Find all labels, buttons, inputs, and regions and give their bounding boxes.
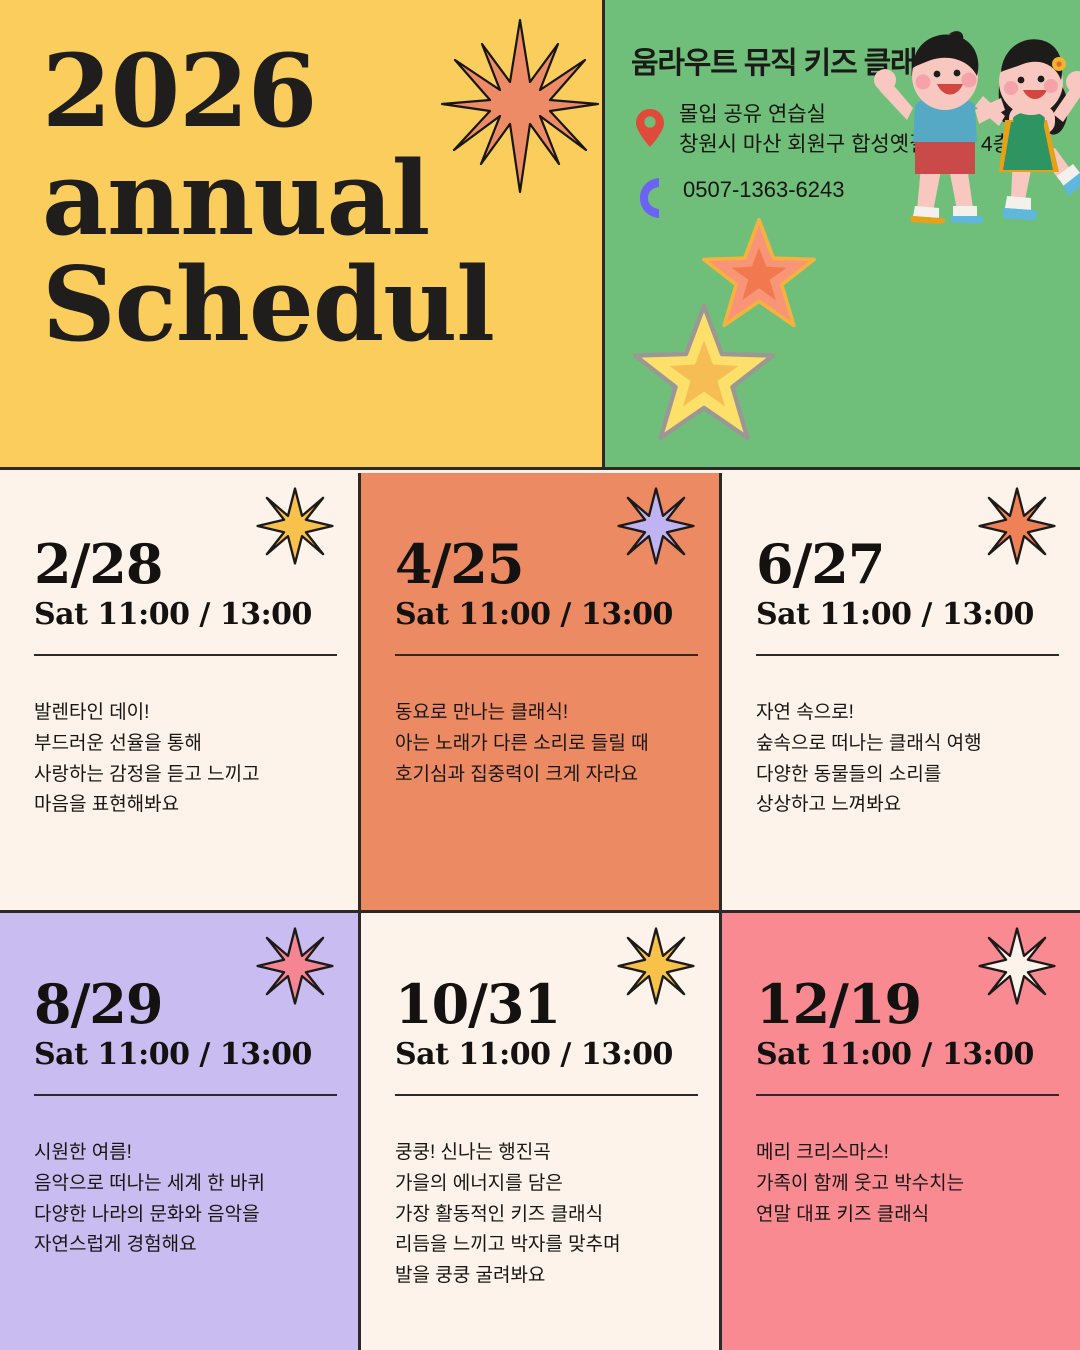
schedule-card[interactable]: 8/29 Sat 11:00 / 13:00 시원한 여름! 음악으로 떠나는 … xyxy=(0,913,361,1350)
desc-line: 자연스럽게 경험해요 xyxy=(34,1230,330,1261)
title-line-schedule: Schedul xyxy=(42,256,572,356)
desc-line: 가장 활동적인 키즈 클래식 xyxy=(395,1200,691,1231)
schedule-card[interactable]: 10/31 Sat 11:00 / 13:00 쿵쿵! 신나는 행진곡 가을의 … xyxy=(361,913,722,1350)
desc-line: 자연 속으로! xyxy=(756,698,1052,729)
twelve-point-sparkle-icon xyxy=(440,12,600,202)
desc-line: 발렌타인 데이! xyxy=(34,698,330,729)
card-divider xyxy=(395,654,698,656)
card-description: 메리 크리스마스! 가족이 함께 웃고 박수치는 연말 대표 키즈 클래식 xyxy=(756,1138,1052,1230)
hero-title-panel: 2026 annual Schedul xyxy=(0,0,605,470)
desc-line: 연말 대표 키즈 클래식 xyxy=(756,1200,1052,1231)
desc-line: 시원한 여름! xyxy=(34,1138,330,1169)
schedule-card[interactable]: 4/25 Sat 11:00 / 13:00 동요로 만나는 클래식! 아는 노… xyxy=(361,473,722,913)
schedule-grid: 2/28 Sat 11:00 / 13:00 발렌타인 데이! 부드러운 선율을… xyxy=(0,473,1080,1350)
desc-line: 숲속으로 떠나는 클래식 여행 xyxy=(756,729,1052,760)
card-time: Sat 11:00 / 13:00 xyxy=(395,597,691,632)
eight-point-star-icon xyxy=(617,927,695,1005)
two-kids-cheering-illustration xyxy=(863,10,1080,225)
desc-line: 발을 쿵쿵 굴려봐요 xyxy=(395,1261,691,1292)
card-divider xyxy=(395,1094,698,1096)
desc-line: 상상하고 느껴봐요 xyxy=(756,790,1052,821)
card-divider xyxy=(756,654,1059,656)
card-time: Sat 11:00 / 13:00 xyxy=(395,1037,691,1072)
desc-line: 리듬을 느끼고 박자를 맞추며 xyxy=(395,1230,691,1261)
map-pin-icon xyxy=(635,108,665,148)
card-description: 자연 속으로! 숲속으로 떠나는 클래식 여행 다양한 동물들의 소리를 상상하… xyxy=(756,698,1052,821)
card-time: Sat 11:00 / 13:00 xyxy=(756,1037,1052,1072)
desc-line: 다양한 나라의 문화와 음악을 xyxy=(34,1200,330,1231)
card-divider xyxy=(34,654,337,656)
eight-point-star-icon xyxy=(978,487,1056,565)
card-description: 시원한 여름! 음악으로 떠나는 세계 한 바퀴 다양한 나라의 문화와 음악을… xyxy=(34,1138,330,1261)
schedule-card[interactable]: 6/27 Sat 11:00 / 13:00 자연 속으로! 숲속으로 떠나는 … xyxy=(722,473,1080,913)
eight-point-star-icon xyxy=(617,487,695,565)
desc-line: 메리 크리스마스! xyxy=(756,1138,1052,1169)
desc-line: 부드러운 선율을 통해 xyxy=(34,729,330,760)
brand-info-panel: 움라우트 뮤직 키즈 클래식 몰입 공유 연습실 창원시 마산 회원구 합성옛길… xyxy=(605,0,1080,470)
schedule-card[interactable]: 2/28 Sat 11:00 / 13:00 발렌타인 데이! 부드러운 선율을… xyxy=(0,473,361,913)
poster-root: 2026 annual Schedul 움라우트 뮤직 키즈 클래식 몰입 공유 xyxy=(0,0,1080,1350)
desc-line: 가족이 함께 웃고 박수치는 xyxy=(756,1169,1052,1200)
card-time: Sat 11:00 / 13:00 xyxy=(34,597,330,632)
desc-line: 마음을 표현해봐요 xyxy=(34,790,330,821)
card-description: 쿵쿵! 신나는 행진곡 가을의 에너지를 담은 가장 활동적인 키즈 클래식 리… xyxy=(395,1138,691,1292)
desc-line: 동요로 만나는 클래식! xyxy=(395,698,691,729)
desc-line: 음악으로 떠나는 세계 한 바퀴 xyxy=(34,1169,330,1200)
desc-line: 아는 노래가 다른 소리로 들릴 때 xyxy=(395,729,691,760)
phone-icon xyxy=(639,176,665,220)
card-divider xyxy=(34,1094,337,1096)
card-description: 발렌타인 데이! 부드러운 선율을 통해 사랑하는 감정을 듣고 느끼고 마음을… xyxy=(34,698,330,821)
five-point-star-icon xyxy=(629,300,779,450)
schedule-card[interactable]: 12/19 Sat 11:00 / 13:00 메리 크리스마스! 가족이 함께… xyxy=(722,913,1080,1350)
eight-point-star-icon xyxy=(256,927,334,1005)
eight-point-star-icon xyxy=(256,487,334,565)
card-time: Sat 11:00 / 13:00 xyxy=(756,597,1052,632)
card-description: 동요로 만나는 클래식! 아는 노래가 다른 소리로 들릴 때 호기심과 집중력… xyxy=(395,698,691,790)
desc-line: 가을의 에너지를 담은 xyxy=(395,1169,691,1200)
desc-line: 다양한 동물들의 소리를 xyxy=(756,760,1052,791)
poster-header: 2026 annual Schedul 움라우트 뮤직 키즈 클래식 몰입 공유 xyxy=(0,0,1080,473)
eight-point-star-icon xyxy=(978,927,1056,1005)
desc-line: 쿵쿵! 신나는 행진곡 xyxy=(395,1138,691,1169)
card-divider xyxy=(756,1094,1059,1096)
card-time: Sat 11:00 / 13:00 xyxy=(34,1037,330,1072)
desc-line: 사랑하는 감정을 듣고 느끼고 xyxy=(34,760,330,791)
desc-line: 호기심과 집중력이 크게 자라요 xyxy=(395,760,691,791)
